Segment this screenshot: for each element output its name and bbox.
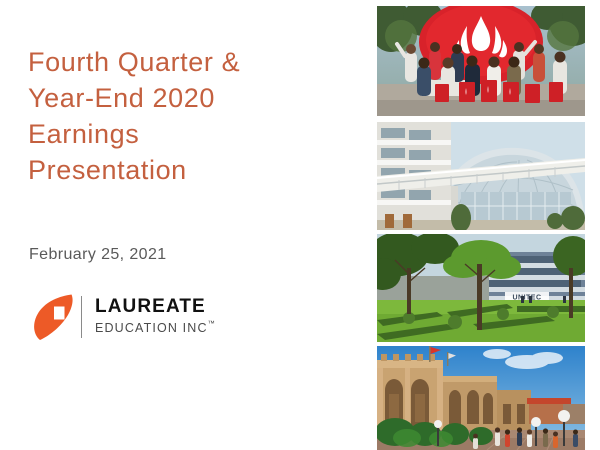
- trademark-icon: ™: [208, 321, 215, 328]
- photo-students-with-red-flame-sculpture: [377, 6, 585, 116]
- title-line-2: Year-End 2020: [28, 80, 358, 116]
- photo-strip: UNITEC: [377, 6, 585, 450]
- title-line-4: Presentation: [28, 152, 358, 188]
- logo-divider: [81, 296, 82, 338]
- title-line-3: Earnings: [28, 116, 358, 152]
- title-panel: Fourth Quarter & Year-End 2020 Earnings …: [0, 0, 370, 450]
- photo-campus-glass-dome-skybridge: [377, 122, 585, 230]
- photo-campus-lawn-unitec-building: UNITEC: [377, 234, 585, 342]
- presentation-title-slide: Fourth Quarter & Year-End 2020 Earnings …: [0, 0, 600, 450]
- logo-company-name: LAUREATE: [95, 296, 245, 318]
- laureate-wordmark: LAUREATE EDUCATION INC™: [95, 296, 245, 337]
- laureate-logo: LAUREATE EDUCATION INC™: [30, 292, 250, 344]
- presentation-date: February 25, 2021: [29, 245, 167, 265]
- logo-subtitle-wrap: EDUCATION INC™: [95, 319, 245, 337]
- page-title: Fourth Quarter & Year-End 2020 Earnings …: [28, 44, 358, 188]
- laureate-flame-mark-icon: [30, 292, 78, 342]
- logo-subtitle: EDUCATION INC: [95, 321, 208, 335]
- photo-historic-arched-building-plaza: [377, 346, 585, 450]
- title-line-1: Fourth Quarter &: [28, 44, 358, 80]
